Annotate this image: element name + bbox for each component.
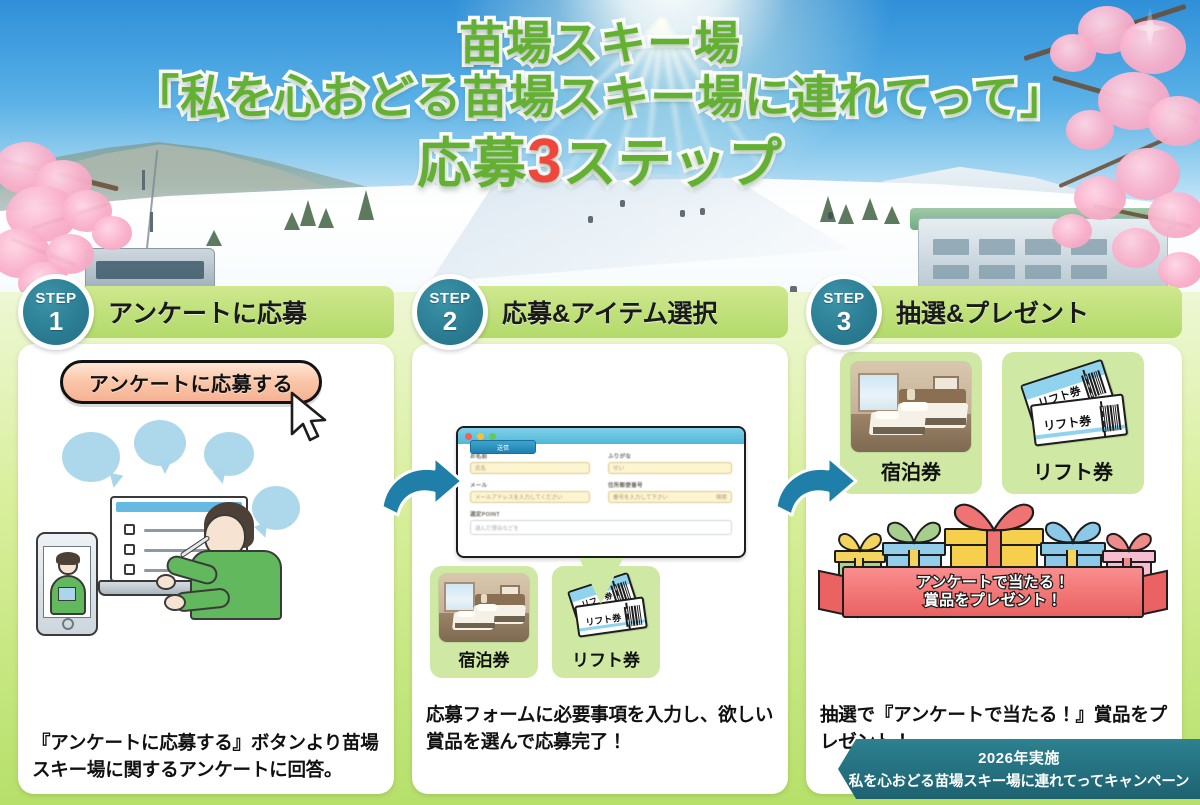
step-1-badge: STEP 1 (18, 274, 94, 350)
step-2-caption: 応募フォームに必要事項を入力し、欲しい賞品を選んで応募完了！ (412, 702, 788, 756)
form-input-name[interactable]: 氏名 (470, 462, 590, 474)
prize-label-accommodation: 宿泊券 (881, 456, 941, 485)
avatar-clipboard (58, 587, 76, 601)
window-minimize-dot[interactable] (477, 433, 484, 440)
form-label-point: 選定POINT (470, 510, 732, 518)
step-2-badge-number: 2 (443, 308, 457, 334)
gift-bow-pink-icon (1102, 530, 1156, 554)
step-3-badge: STEP 3 (806, 274, 882, 350)
form-label-email: メール (470, 481, 590, 489)
steps-container: STEP 1 アンケートに応募 アンケートに応募する (0, 286, 1200, 805)
smartphone (36, 532, 98, 636)
person-hand (164, 594, 186, 611)
lift-tower-icon (142, 170, 145, 190)
form-group-email: メール メールアドレスを入力してください (470, 481, 590, 503)
campaign-footer-ribbon: 2026年実施 私を心おどる苗場スキー場に連れてってキャンペーン (838, 739, 1200, 799)
arrow-step2-to-step3-icon (772, 455, 858, 527)
smartphone-screen (43, 546, 91, 618)
application-form-window: お名前 氏名 ふりがな せい メール メールアドレスを入力してください (456, 426, 746, 558)
footer-year-line: 2026年実施 (978, 747, 1060, 768)
person-hand (156, 574, 176, 590)
gift-banner-line-1: アンケートで当たる！ (916, 574, 1069, 592)
survey-apply-button-label: アンケートに応募する (89, 368, 293, 397)
smartphone-home-button (62, 618, 74, 630)
step-2-badge-word: STEP (429, 291, 470, 306)
form-group-kana: ふりがな せい (608, 452, 732, 474)
speech-bubble (252, 486, 300, 530)
step-1-header: STEP 1 アンケートに応募 (64, 286, 394, 338)
prize-card-accommodation[interactable]: 宿泊券 (430, 566, 538, 678)
step-1-illustration: アンケートに応募する (18, 344, 394, 684)
gift-bow-blue-icon (1040, 518, 1106, 546)
form-input-postal[interactable]: 番号を入力して下さい 検索 (608, 491, 732, 503)
step-2-panel: お名前 氏名 ふりがな せい メール メールアドレスを入力してください (412, 344, 788, 794)
hero-banner: 苗場スキー場 「私を心おどる苗場スキー場に連れてって」 応募3ステップ (0, 0, 1200, 292)
form-group-name: お名前 氏名 (470, 452, 590, 474)
step-3-panel: 宿泊券 リフト券 (806, 344, 1182, 794)
gift-bow-green-icon (882, 518, 946, 546)
step-2-header: STEP 2 応募&アイテム選択 (458, 286, 788, 338)
step-column-2: STEP 2 応募&アイテム選択 (412, 286, 788, 794)
form-input-kana[interactable]: せい (608, 462, 732, 474)
step-column-1: STEP 1 アンケートに応募 アンケートに応募する (18, 286, 394, 794)
form-area: お名前 氏名 ふりがな せい メール メールアドレスを入力してください (458, 444, 744, 462)
gondola-station (85, 248, 215, 290)
form-group-postal: 住所郵便番号 番号を入力して下さい 検索 (608, 481, 732, 503)
step-2-badge: STEP 2 (412, 274, 488, 350)
step-1-badge-word: STEP (35, 291, 76, 306)
survey-apply-button[interactable]: アンケートに応募する (60, 360, 322, 404)
form-group-point: 選定POINT 選んだ理由などを (470, 510, 732, 535)
skier-figure (828, 212, 833, 219)
mouse-cursor-icon (286, 390, 332, 446)
step-1-title: アンケートに応募 (108, 294, 307, 330)
skier-figure (680, 210, 685, 217)
skier-figure (588, 216, 593, 223)
gift-present-banner: アンケートで当たる！ 賞品をプレゼント！ (820, 500, 1166, 630)
step-3-title: 抽選&プレゼント (896, 294, 1089, 330)
form-input-postal-value: 番号を入力して下さい (613, 493, 668, 501)
prize-label-lift-ticket: リフト券 (1033, 456, 1113, 485)
speech-bubble-tail (213, 469, 230, 486)
checkbox-checked-icon (124, 524, 135, 535)
postal-search-button[interactable]: 検索 (716, 493, 727, 501)
footer-campaign-name: 私を心おどる苗場スキー場に連れてってキャンペーン (849, 770, 1189, 791)
form-input-email[interactable]: メールアドレスを入力してください (470, 491, 590, 503)
step-3-badge-word: STEP (823, 291, 864, 306)
step-3-illustration: 宿泊券 リフト券 (806, 344, 1182, 684)
gift-bow-yellow-icon (834, 530, 886, 554)
gondola-window (96, 261, 204, 279)
avatar-hair (56, 552, 80, 565)
gift-banner-text: アンケートで当たる！ 賞品をプレゼント！ (842, 566, 1144, 618)
skier-figure (620, 200, 625, 207)
step-column-3: STEP 3 抽選&プレゼント (806, 286, 1182, 794)
lift-tower-icon (150, 212, 153, 232)
step-3-header: STEP 3 抽選&プレゼント (852, 286, 1182, 338)
step-2-title: 応募&アイテム選択 (502, 294, 718, 330)
lift-ticket-icon: リフト券 リフト券 (1012, 361, 1134, 453)
checkbox-checked-icon (124, 544, 135, 555)
window-close-dot[interactable] (465, 433, 472, 440)
step-1-panel: アンケートに応募する (18, 344, 394, 794)
prize-label-lift-ticket: リフト券 (572, 646, 640, 671)
form-submit-button[interactable]: 送信 (470, 440, 536, 454)
speech-bubble-tail (107, 473, 124, 490)
step-1-caption: 『アンケートに応募する』ボタンより苗場スキー場に関するアンケートに回答。 (18, 730, 394, 784)
campaign-infographic: 苗場スキー場 「私を心おどる苗場スキー場に連れてって」 応募3ステップ STEP… (0, 0, 1200, 805)
step-3-badge-number: 3 (837, 308, 851, 334)
form-label-postal: 住所郵便番号 (608, 481, 732, 489)
hotel-room-photo-icon (850, 361, 972, 453)
prize-label-accommodation: 宿泊券 (459, 646, 510, 671)
window-maximize-dot[interactable] (489, 433, 496, 440)
prize-card-lift-ticket[interactable]: リフト券 リフト券 (1002, 352, 1144, 494)
checkbox-empty-icon (124, 564, 135, 575)
hotel-room-photo-icon (438, 573, 530, 643)
speech-bubble-tail (158, 460, 172, 474)
step-1-badge-number: 1 (49, 308, 63, 334)
prize-card-accommodation[interactable]: 宿泊券 (840, 352, 982, 494)
arrow-step1-to-step2-icon (378, 455, 464, 527)
form-input-point[interactable]: 選んだ理由などを (470, 520, 732, 535)
skier-figure (700, 208, 705, 215)
step-2-illustration: お名前 氏名 ふりがな せい メール メールアドレスを入力してください (412, 344, 788, 684)
gift-bow-red-icon (946, 500, 1042, 534)
gift-banner-line-2: 賞品をプレゼント！ (924, 592, 1063, 610)
form-label-kana: ふりがな (608, 452, 732, 460)
speech-bubble (204, 432, 254, 476)
flow-arrow-down-icon (579, 558, 623, 604)
